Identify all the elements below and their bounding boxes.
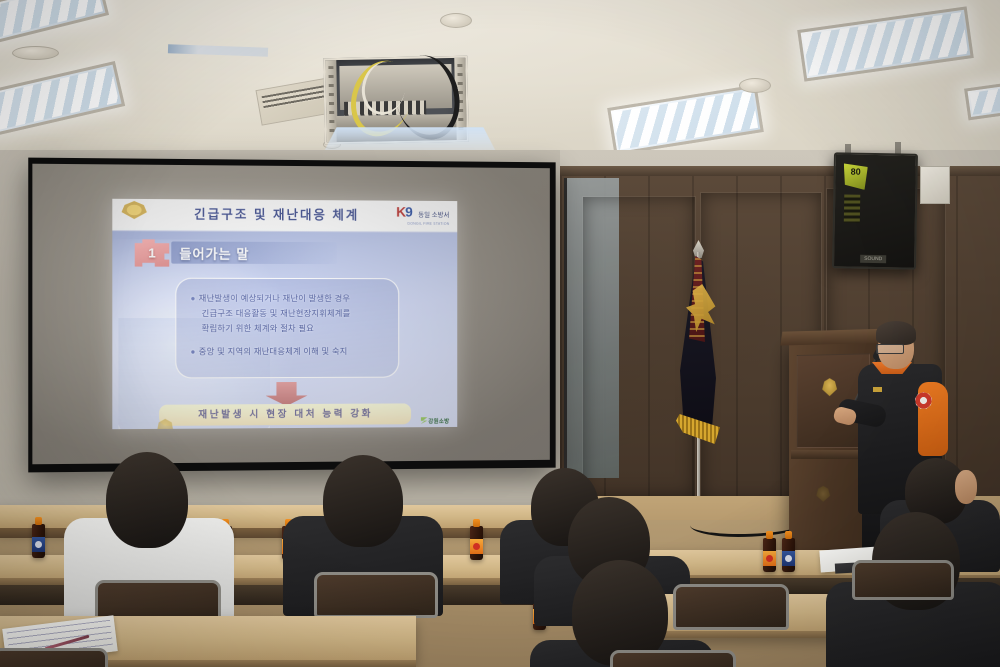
chair[interactable]: [610, 650, 736, 667]
drink-bottle[interactable]: [763, 538, 776, 572]
bullet-marker-icon: ●: [190, 347, 195, 356]
smoke-detector-icon: [440, 13, 472, 28]
drink-bottle[interactable]: [782, 538, 795, 572]
audience-head: [106, 452, 188, 548]
k9-mark: K9: [396, 204, 412, 220]
k9-letter: K: [396, 204, 405, 220]
bullet-line: 중앙 및 지역의 재난대응체계 이해 및 숙지: [199, 347, 348, 356]
slide-footer-logo: 강원소방: [420, 417, 449, 425]
footer-logo-text: 강원소방: [428, 419, 449, 425]
bullet-line: 긴급구조 대응활동 및 재난현장지휘체계를: [202, 307, 389, 322]
name-badge: [873, 387, 882, 392]
speaker-brand-label: SOUND: [860, 255, 886, 263]
chair[interactable]: [673, 584, 789, 630]
drink-bottle[interactable]: [32, 524, 45, 558]
chair[interactable]: [314, 572, 438, 618]
audience-head: [323, 455, 403, 547]
audience-face: [955, 470, 977, 504]
projection-screen: 긴급구조 및 재난대응 체계 K9 동일 소방서 DONGIL FIRE STA…: [32, 164, 549, 465]
chair[interactable]: [0, 648, 108, 667]
conference-room-photo: 80 SOUND 긴급구조 및 재난대응 체계 K9 동일 소방서 DONGIL…: [0, 0, 1000, 667]
slide-header-bar: 긴급구조 및 재난대응 체계 K9 동일 소방서 DONGIL FIRE STA…: [112, 199, 457, 233]
slide-title: 긴급구조 및 재난대응 체계: [171, 203, 381, 223]
section-number-badge: 1: [135, 239, 170, 266]
footer-logo-mark-icon: [420, 417, 427, 424]
bullet-line: 재난발생이 예상되거나 재난이 발생한 경우: [199, 294, 350, 303]
slide-body-box: ●재난발생이 예상되거나 재난이 발생한 경우 긴급구조 대응활동 및 재난현장…: [175, 278, 399, 379]
pa-speaker: 80 SOUND: [832, 152, 918, 269]
slide-bullet: ●중앙 및 지역의 재난대응체계 이해 및 숙지: [190, 345, 388, 360]
speaker-grille-icon: [844, 194, 860, 222]
slide-conclusion-banner: 재난발생 시 현장 대처 능력 강화: [159, 403, 411, 425]
ceiling-fitting: [12, 46, 59, 60]
bullet-line: 확립하기 위한 체계와 절차 필요: [202, 322, 389, 337]
section-title: 들어가는 말: [179, 244, 249, 263]
k9-logo: K9 동일 소방서 DONGIL FIRE STATION: [396, 204, 449, 226]
eyeglasses-icon: [876, 344, 904, 354]
wall-mounted-box: [920, 166, 950, 204]
chair[interactable]: [852, 560, 954, 600]
bullet-marker-icon: ●: [190, 294, 195, 303]
slide-bullet: ●재난발생이 예상되거나 재난이 발생한 경우 긴급구조 대응활동 및 재난현장…: [190, 292, 388, 337]
k9-number: 9: [405, 204, 412, 220]
podium-lower-emblem-icon: [816, 486, 830, 502]
presentation-slide: 긴급구조 및 재난대응 체계 K9 동일 소방서 DONGIL FIRE STA…: [112, 199, 457, 429]
presenter-hair: [876, 321, 916, 345]
k9-org-name: 동일 소방서: [418, 209, 449, 219]
fire-service-crest-icon: [121, 201, 146, 219]
k9-org-subtitle: DONGIL FIRE STATION: [396, 222, 449, 226]
drink-bottle[interactable]: [470, 526, 483, 560]
projection-screen-frame: 긴급구조 및 재난대응 체계 K9 동일 소방서 DONGIL FIRE STA…: [28, 158, 555, 473]
speaker-badge: 80: [843, 163, 867, 189]
smoke-detector-icon: [739, 78, 771, 93]
